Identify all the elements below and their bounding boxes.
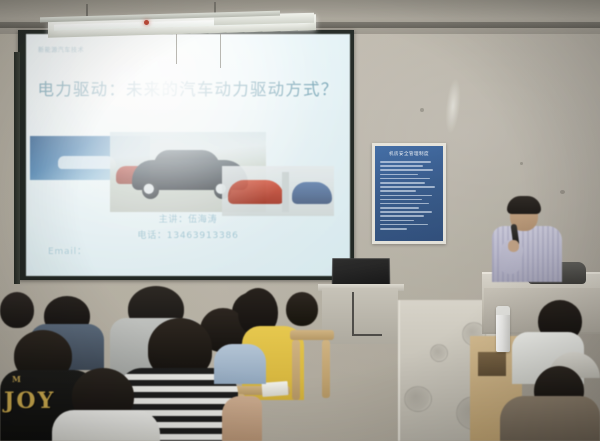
classroom-chair	[292, 340, 300, 400]
presenter-hair	[507, 196, 541, 214]
presenter	[486, 196, 572, 278]
power-cable	[352, 292, 354, 336]
lecture-hall-photo: 新能源汽车技术 电力驱动：未来的汽车动力驱动方式？ 主讲：伍海涛 电话：1346…	[0, 0, 600, 441]
slide-image-red-car-charging-post	[222, 166, 334, 216]
light-indicator-icon	[144, 20, 149, 25]
power-cable	[352, 334, 382, 336]
hanging-cord	[220, 34, 221, 68]
wall-mark	[520, 162, 523, 165]
slide-watermark-label: 新能源汽车技术	[38, 45, 84, 54]
audience-arm-blue	[214, 344, 266, 384]
audience-torso-white	[52, 410, 160, 441]
speaker-grille-icon	[404, 386, 432, 412]
slide-car-collage	[26, 132, 350, 220]
slide-presenter-line: 主讲：伍海涛	[26, 212, 350, 225]
slide-email-line: Email：	[26, 244, 350, 257]
speaker-grille-icon	[430, 344, 448, 362]
shirt-logo-text: JOY	[4, 388, 55, 414]
presenter-hand	[508, 240, 519, 252]
wall-mark	[560, 190, 565, 194]
audience-torso-brown	[500, 396, 600, 441]
wall-mark	[420, 108, 424, 112]
slide-phone-line: 电话：13463913386	[26, 228, 350, 241]
audience-head	[286, 292, 318, 326]
thermos-bottle	[496, 306, 510, 352]
classroom-chair	[322, 340, 330, 398]
projection-screen: 新能源汽车技术 电力驱动：未来的汽车动力驱动方式？ 主讲：伍海涛 电话：1346…	[26, 34, 350, 276]
audience-head	[0, 292, 34, 328]
shirt-logo-mark: M	[12, 374, 21, 384]
slide-title: 电力驱动：未来的汽车动力驱动方式？	[26, 76, 350, 100]
hanging-cord	[176, 34, 177, 64]
poster-body-text	[380, 161, 438, 232]
classroom-chair	[290, 330, 334, 340]
wall-poster: 机房安全管理制度	[375, 146, 443, 241]
poster-heading: 机房安全管理制度	[375, 151, 443, 157]
audience-arm	[222, 396, 262, 441]
